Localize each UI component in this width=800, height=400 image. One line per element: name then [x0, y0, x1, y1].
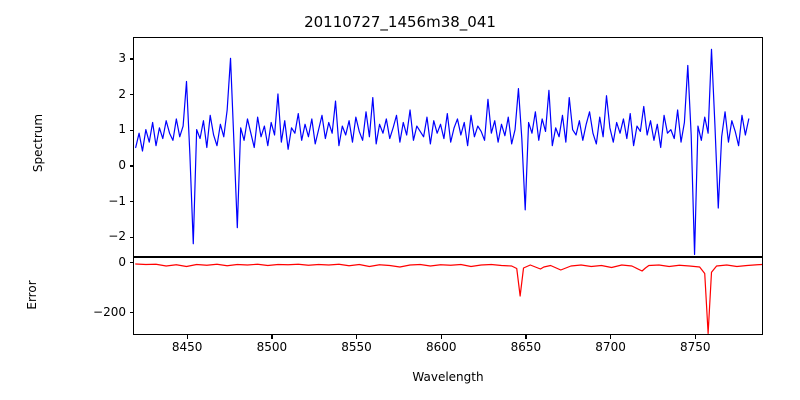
- x-tick-label: 8550: [322, 340, 392, 354]
- y-tick-label: −1: [66, 194, 126, 208]
- x-tick-mark: [695, 335, 696, 339]
- x-tick-mark: [525, 335, 526, 339]
- error-y-axis-label: Error: [25, 255, 39, 335]
- x-tick-label: 8650: [491, 340, 561, 354]
- x-tick-label: 8600: [406, 340, 476, 354]
- page-title: 20110727_1456m38_041: [0, 13, 800, 31]
- spectrum-line-series: [134, 38, 763, 257]
- y-tick-label-wrap: 0: [60, 255, 126, 269]
- y-tick-label-wrap: −2: [60, 229, 126, 243]
- y-tick-label: 3: [66, 51, 126, 65]
- spectrum-y-axis-label: Spectrum: [31, 88, 45, 198]
- y-tick-label: −200: [66, 305, 126, 319]
- y-tick-label-wrap: −200: [60, 305, 126, 319]
- y-tick-label: 0: [66, 158, 126, 172]
- y-tick-label-wrap: −1: [60, 194, 126, 208]
- y-tick-label: 2: [66, 87, 126, 101]
- y-tick-label-wrap: 0: [60, 158, 126, 172]
- y-tick-label-wrap: 1: [60, 122, 126, 136]
- y-tick-label: −2: [66, 229, 126, 243]
- x-tick-mark: [271, 335, 272, 339]
- y-tick-label: 1: [66, 122, 126, 136]
- error-line-series: [134, 258, 763, 335]
- x-tick-label: 8500: [237, 340, 307, 354]
- x-tick-mark: [356, 335, 357, 339]
- x-tick-mark: [441, 335, 442, 339]
- y-tick-label-wrap: 3: [60, 51, 126, 65]
- y-tick-label-wrap: 2: [60, 87, 126, 101]
- error-plot-area: [133, 257, 763, 335]
- x-tick-label: 8700: [576, 340, 646, 354]
- x-tick-label: 8750: [660, 340, 730, 354]
- spectrum-plot-area: [133, 37, 763, 257]
- y-tick-label: 0: [66, 255, 126, 269]
- x-axis-label: Wavelength: [133, 370, 763, 384]
- x-tick-label: 8450: [152, 340, 222, 354]
- x-tick-mark: [187, 335, 188, 339]
- x-tick-mark: [610, 335, 611, 339]
- figure-canvas: 20110727_1456m38_041 Spectrum Error Wave…: [0, 0, 800, 400]
